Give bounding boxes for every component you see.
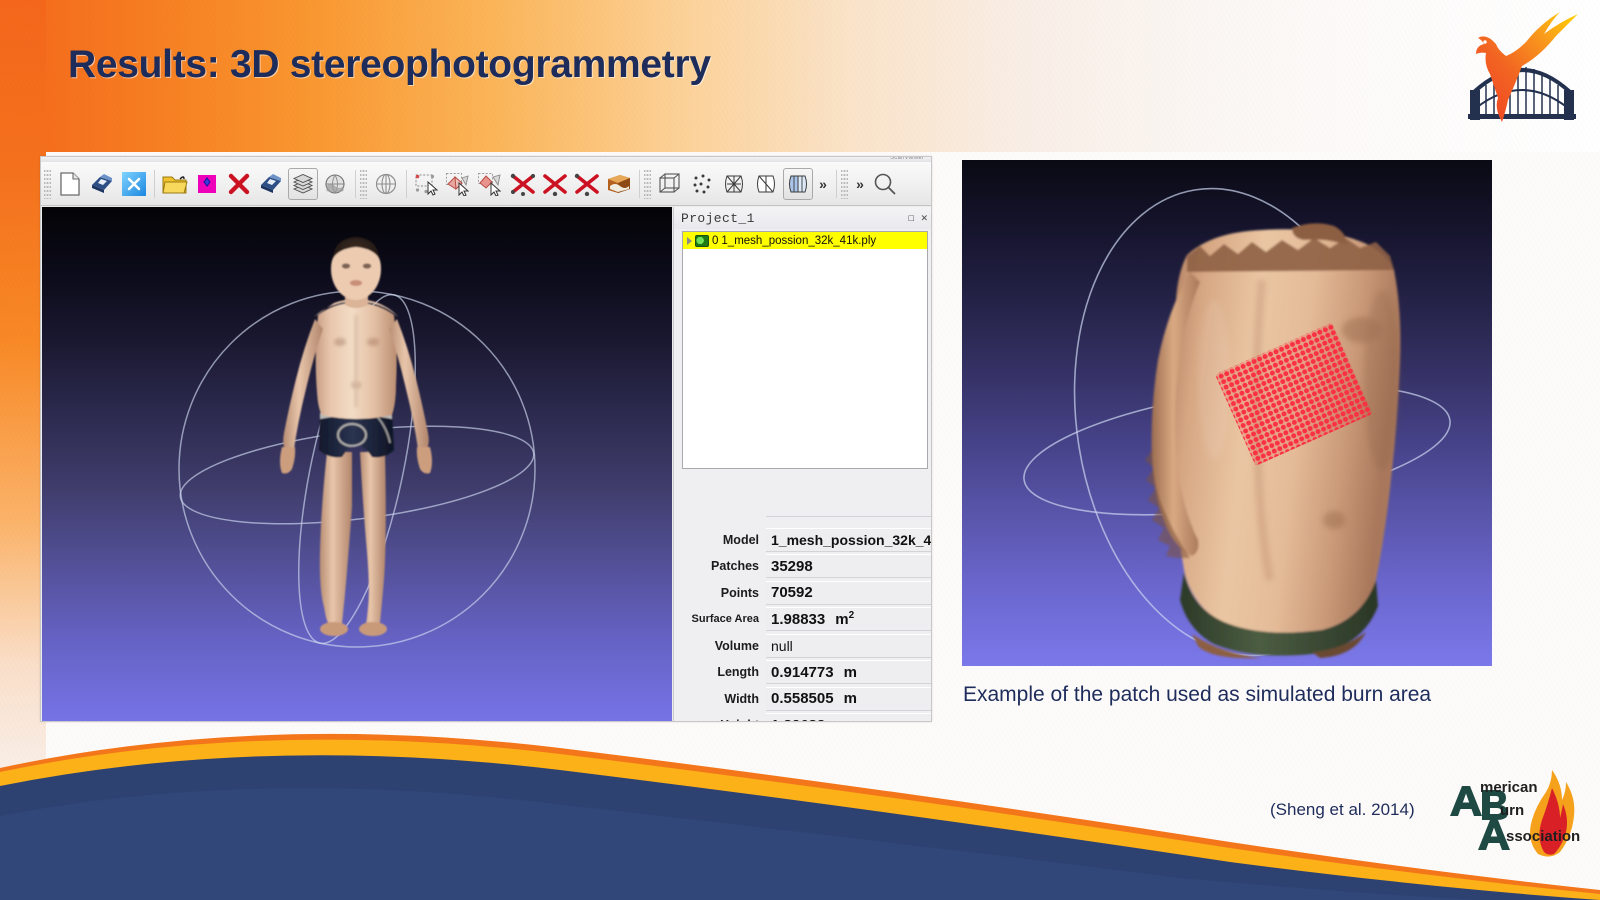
3d-torso-scan-with-red-patch: [962, 160, 1492, 666]
prop-value-surface-area: 1.98833 m2: [766, 607, 932, 631]
hidden-lines-icon[interactable]: [751, 168, 781, 200]
prop-value-points: 70592: [766, 581, 932, 605]
toolbar-overflow-chevron[interactable]: »: [814, 176, 832, 192]
delete-vertices-icon[interactable]: [540, 168, 570, 200]
toolbar-grip[interactable]: [360, 169, 367, 199]
delete-faces-icon[interactable]: [508, 168, 538, 200]
prop-value-model: 1_mesh_possion_32k_4: [766, 528, 932, 552]
citation-text: (Sheng et al. 2014): [1270, 800, 1415, 820]
prop-unit: m2: [835, 610, 854, 628]
prop-value-length: 0.914773 m: [766, 660, 932, 684]
delete-selection-icon[interactable]: [572, 168, 602, 200]
close-dock-icon[interactable]: ✕: [921, 211, 928, 225]
meshlab-app-screenshot: ScanViewer: [40, 156, 932, 722]
wireframe-sphere-icon[interactable]: [371, 168, 401, 200]
list-item[interactable]: 0 1_mesh_possion_32k_41k.ply: [683, 232, 927, 249]
toolbar-separator: [639, 170, 640, 198]
toolbar-separator: [406, 170, 407, 198]
toolbar-separator: [355, 170, 356, 198]
chevron-right-icon[interactable]: [687, 237, 692, 245]
prop-key-patches: Patches: [674, 559, 766, 573]
page-title: Results: 3D stereophotogrammetry: [68, 43, 711, 87]
select-rectangle-icon[interactable]: [412, 168, 442, 200]
prop-key-width: Width: [674, 692, 766, 706]
prop-unit: m: [844, 690, 857, 707]
prop-number: 0.914773: [771, 664, 834, 681]
prop-unit: m: [844, 664, 857, 681]
aba-line-1: merican: [1480, 779, 1538, 796]
add-layer-icon[interactable]: [192, 168, 222, 200]
toolbar-grip[interactable]: [44, 169, 51, 199]
table-row: Length 0.914773 m: [674, 659, 932, 686]
table-row: Width 0.558505 m: [674, 686, 932, 713]
prop-number: 1.98833: [771, 611, 825, 628]
prop-value-volume: null: [766, 634, 932, 658]
project-tree[interactable]: 0 1_mesh_possion_32k_41k.ply: [682, 231, 928, 469]
new-document-icon[interactable]: [55, 168, 85, 200]
delete-red-x-icon[interactable]: [224, 168, 254, 200]
prop-key-model: Model: [674, 533, 766, 547]
prop-value-width: 0.558505 m: [766, 687, 932, 711]
aba-line-2: urn: [1500, 802, 1524, 819]
select-faces-icon[interactable]: [444, 168, 474, 200]
toolbar-grip[interactable]: [644, 169, 651, 199]
prop-number: 0.558505: [771, 690, 834, 707]
select-vertices-icon[interactable]: [476, 168, 506, 200]
aba-line-3: ssociation: [1506, 828, 1580, 845]
prop-key-points: Points: [674, 586, 766, 600]
project-dock-panel[interactable]: Project_1 ☐ ✕ 0 1_mesh_possion_32k_41k.p…: [673, 207, 932, 722]
bounding-box-icon[interactable]: [655, 168, 685, 200]
mesh-properties-table: Model 1_mesh_possion_32k_4 Patches 35298…: [674, 500, 932, 722]
prop-key-volume: Volume: [674, 639, 766, 653]
layers-stack-icon[interactable]: [288, 168, 318, 200]
slide-canvas: Results: 3D stereophotogrammetry: [0, 0, 1600, 900]
search-icon[interactable]: [870, 168, 900, 200]
prop-key-surface-area: Surface Area: [674, 613, 766, 625]
table-row: Volume null: [674, 633, 932, 660]
save-mesh-icon[interactable]: [87, 168, 117, 200]
point-cloud-icon[interactable]: [687, 168, 717, 200]
globe-shading-icon[interactable]: [320, 168, 350, 200]
open-folder-icon[interactable]: [160, 168, 190, 200]
wireframe-icon[interactable]: [719, 168, 749, 200]
toolbar-overflow-chevron-2[interactable]: »: [851, 176, 869, 192]
prop-value-patches: 35298: [766, 554, 932, 578]
mesh-layer-icon: [695, 235, 709, 247]
toolbar-separator: [154, 170, 155, 198]
tree-item-label: 1_mesh_possion_32k_41k.ply: [721, 235, 876, 247]
table-row: Points 70592: [674, 580, 932, 607]
figure-caption: Example of the patch used as simulated b…: [963, 683, 1431, 707]
american-burn-association-logo: merican urn ssociation: [1438, 758, 1590, 870]
flat-shaded-icon[interactable]: [783, 168, 813, 200]
texture-paint-icon[interactable]: [604, 168, 634, 200]
close-mesh-icon[interactable]: [119, 168, 149, 200]
app-toolbar[interactable]: » »: [41, 162, 932, 206]
table-row: Patches 35298: [674, 553, 932, 580]
3d-full-body-scan-viewport[interactable]: [42, 207, 672, 722]
table-row: [674, 500, 932, 527]
dock-titlebar[interactable]: Project_1 ☐ ✕: [674, 207, 932, 229]
table-row: Surface Area 1.98833 m2: [674, 606, 932, 633]
save-as-icon[interactable]: [256, 168, 286, 200]
toolbar-grip[interactable]: [841, 169, 848, 199]
table-row: Model 1_mesh_possion_32k_4: [674, 527, 932, 554]
liverpool-phoenix-bridge-logo: [1432, 12, 1584, 130]
float-dock-icon[interactable]: ☐: [908, 211, 915, 225]
prop-key-length: Length: [674, 665, 766, 679]
tree-item-index: 0: [712, 235, 718, 247]
dock-title-text: Project_1: [681, 211, 755, 226]
toolbar-separator: [836, 170, 837, 198]
window-title-text: ScanViewer: [890, 156, 924, 161]
